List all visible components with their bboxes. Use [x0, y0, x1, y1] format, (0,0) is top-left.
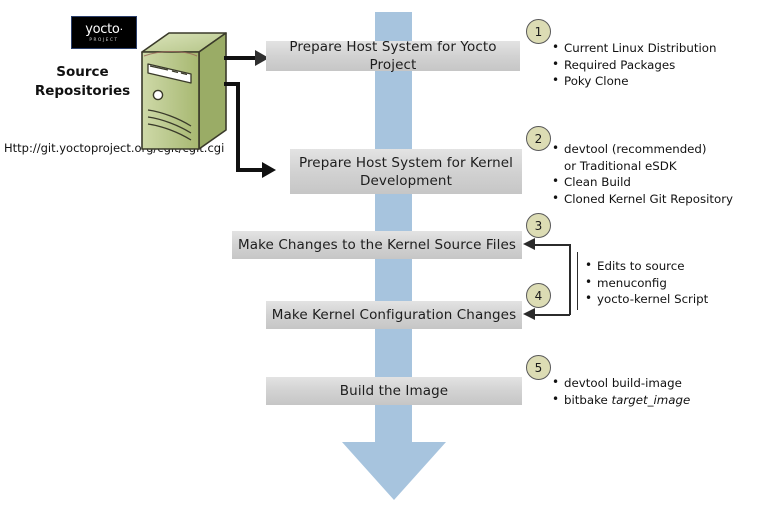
step1-bullet-item: Current Linux Distribution [552, 40, 752, 57]
step1-bullet-list: Current Linux Distribution Required Pack… [552, 40, 752, 90]
step-number-4-value: 4 [535, 289, 543, 303]
step5-bullet-item: devtool build-image [552, 375, 752, 392]
process-box-step4-label: Make Kernel Configuration Changes [272, 306, 516, 324]
step-number-2: 2 [526, 126, 551, 151]
step2-bullet-item: devtool (recommended) or Traditional eSD… [552, 141, 722, 174]
source-repositories-label-line2: Repositories [20, 82, 145, 101]
step-number-4: 4 [526, 283, 551, 308]
step5-bullet-item: bitbake target_image [552, 392, 752, 409]
connector-server-to-step2-vertical [236, 82, 240, 170]
yocto-logo-dot: · [120, 23, 123, 36]
steps34-shared-bullet-list: Edits to source menuconfig yocto-kernel … [585, 258, 755, 308]
shared-bullets-divider [577, 252, 578, 310]
steps34-bullet-item: menuconfig [585, 275, 755, 292]
step-number-5: 5 [526, 355, 551, 380]
step5-bullet-argument: target_image [612, 393, 691, 407]
step-number-3: 3 [526, 213, 551, 238]
connector-bracket-vertical [569, 244, 571, 315]
arrow-server-to-step2 [262, 162, 276, 178]
connector-server-to-step1 [224, 56, 258, 60]
source-repositories-label-line1: Source [20, 63, 145, 82]
step-number-1-value: 1 [535, 25, 543, 39]
step5-bullet-list: devtool build-image bitbake target_image [552, 375, 752, 408]
process-box-step3-label: Make Changes to the Kernel Source Files [238, 236, 516, 254]
step1-bullet-item: Poky Clone [552, 73, 752, 90]
process-box-step3[interactable]: Make Changes to the Kernel Source Files [232, 231, 522, 259]
step-number-1: 1 [526, 19, 551, 44]
process-box-step1-label: Prepare Host System for Yocto Project [266, 38, 520, 74]
steps34-bullet-item: Edits to source [585, 258, 755, 275]
process-box-step5[interactable]: Build the Image [266, 377, 522, 405]
process-box-step4[interactable]: Make Kernel Configuration Changes [266, 301, 522, 329]
step5-bullet-command: bitbake [564, 393, 612, 407]
steps34-bullet-item: yocto-kernel Script [585, 291, 755, 308]
connector-bracket-step4 [535, 314, 570, 316]
process-box-step1[interactable]: Prepare Host System for Yocto Project [266, 41, 520, 71]
connector-bracket-step3 [535, 244, 570, 246]
connector-server-to-step2-bottom [236, 168, 264, 172]
yocto-logo-subtext: PROJECT [89, 38, 118, 42]
step-number-3-value: 3 [535, 219, 543, 233]
arrow-bracket-to-step3 [523, 238, 535, 250]
source-repositories-label: Source Repositories [20, 63, 145, 101]
arrow-bracket-to-step4 [523, 308, 535, 320]
server-icon [138, 30, 230, 155]
step2-bullet-item: Clean Build [552, 174, 722, 191]
process-box-step5-label: Build the Image [340, 382, 448, 400]
step2-bullet-item: Cloned Kernel Git Repository [552, 191, 722, 208]
diagram-canvas: yocto· PROJECT Source Repositories Http:… [0, 0, 769, 517]
step2-bullet-list: devtool (recommended) or Traditional eSD… [552, 141, 722, 207]
process-box-step2-label-line2: Development [360, 172, 452, 190]
yocto-project-logo: yocto· PROJECT [71, 16, 137, 49]
yocto-logo-text: yocto [85, 22, 119, 37]
process-box-step2[interactable]: Prepare Host System for Kernel Developme… [290, 149, 522, 194]
vertical-flow-arrow-head [342, 442, 446, 500]
yocto-logo-wordmark: yocto· [85, 23, 123, 36]
process-box-step2-label-line1: Prepare Host System for Kernel [299, 154, 513, 172]
step1-bullet-item: Required Packages [552, 57, 752, 74]
step-number-5-value: 5 [535, 361, 543, 375]
step-number-2-value: 2 [535, 132, 543, 146]
